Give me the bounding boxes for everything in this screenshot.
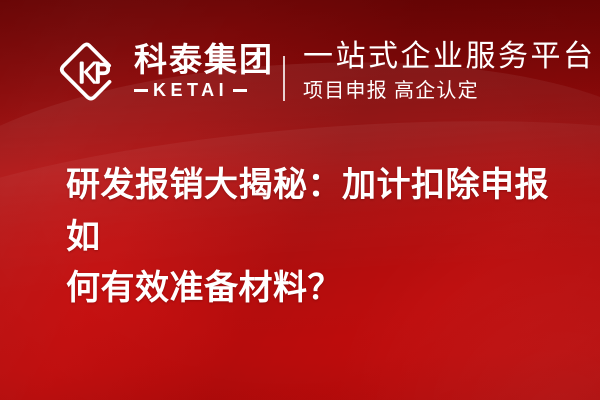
slogan-block: 一站式企业服务平台 项目申报 高企认定 xyxy=(303,40,596,103)
vertical-divider-icon xyxy=(283,56,285,101)
poster-banner: 科泰集团 KETAI 一站式企业服务平台 项目申报 高企认定 研发报销大揭秘：加… xyxy=(0,0,600,400)
company-name-en: KETAI xyxy=(153,80,228,101)
slogan-main-text: 一站式企业服务平台 xyxy=(303,40,596,75)
page-title: 研发报销大揭秘：加计扣除申报如 何有效准备材料？ xyxy=(66,160,566,315)
slogan-sub-text: 项目申报 高企认定 xyxy=(303,80,596,103)
dash-left-icon xyxy=(134,89,148,92)
dash-right-icon xyxy=(233,89,247,92)
logo-wordmark: 科泰集团 KETAI xyxy=(134,43,274,102)
page-title-line-1: 研发报销大揭秘：加计扣除申报如 xyxy=(66,160,566,263)
company-name-en-row: KETAI xyxy=(134,80,274,101)
kp-diamond-logo-icon xyxy=(58,41,120,103)
company-name-cn: 科泰集团 xyxy=(134,43,274,78)
brand-header: 科泰集团 KETAI xyxy=(58,36,274,108)
page-title-line-2: 何有效准备材料？ xyxy=(66,263,566,315)
